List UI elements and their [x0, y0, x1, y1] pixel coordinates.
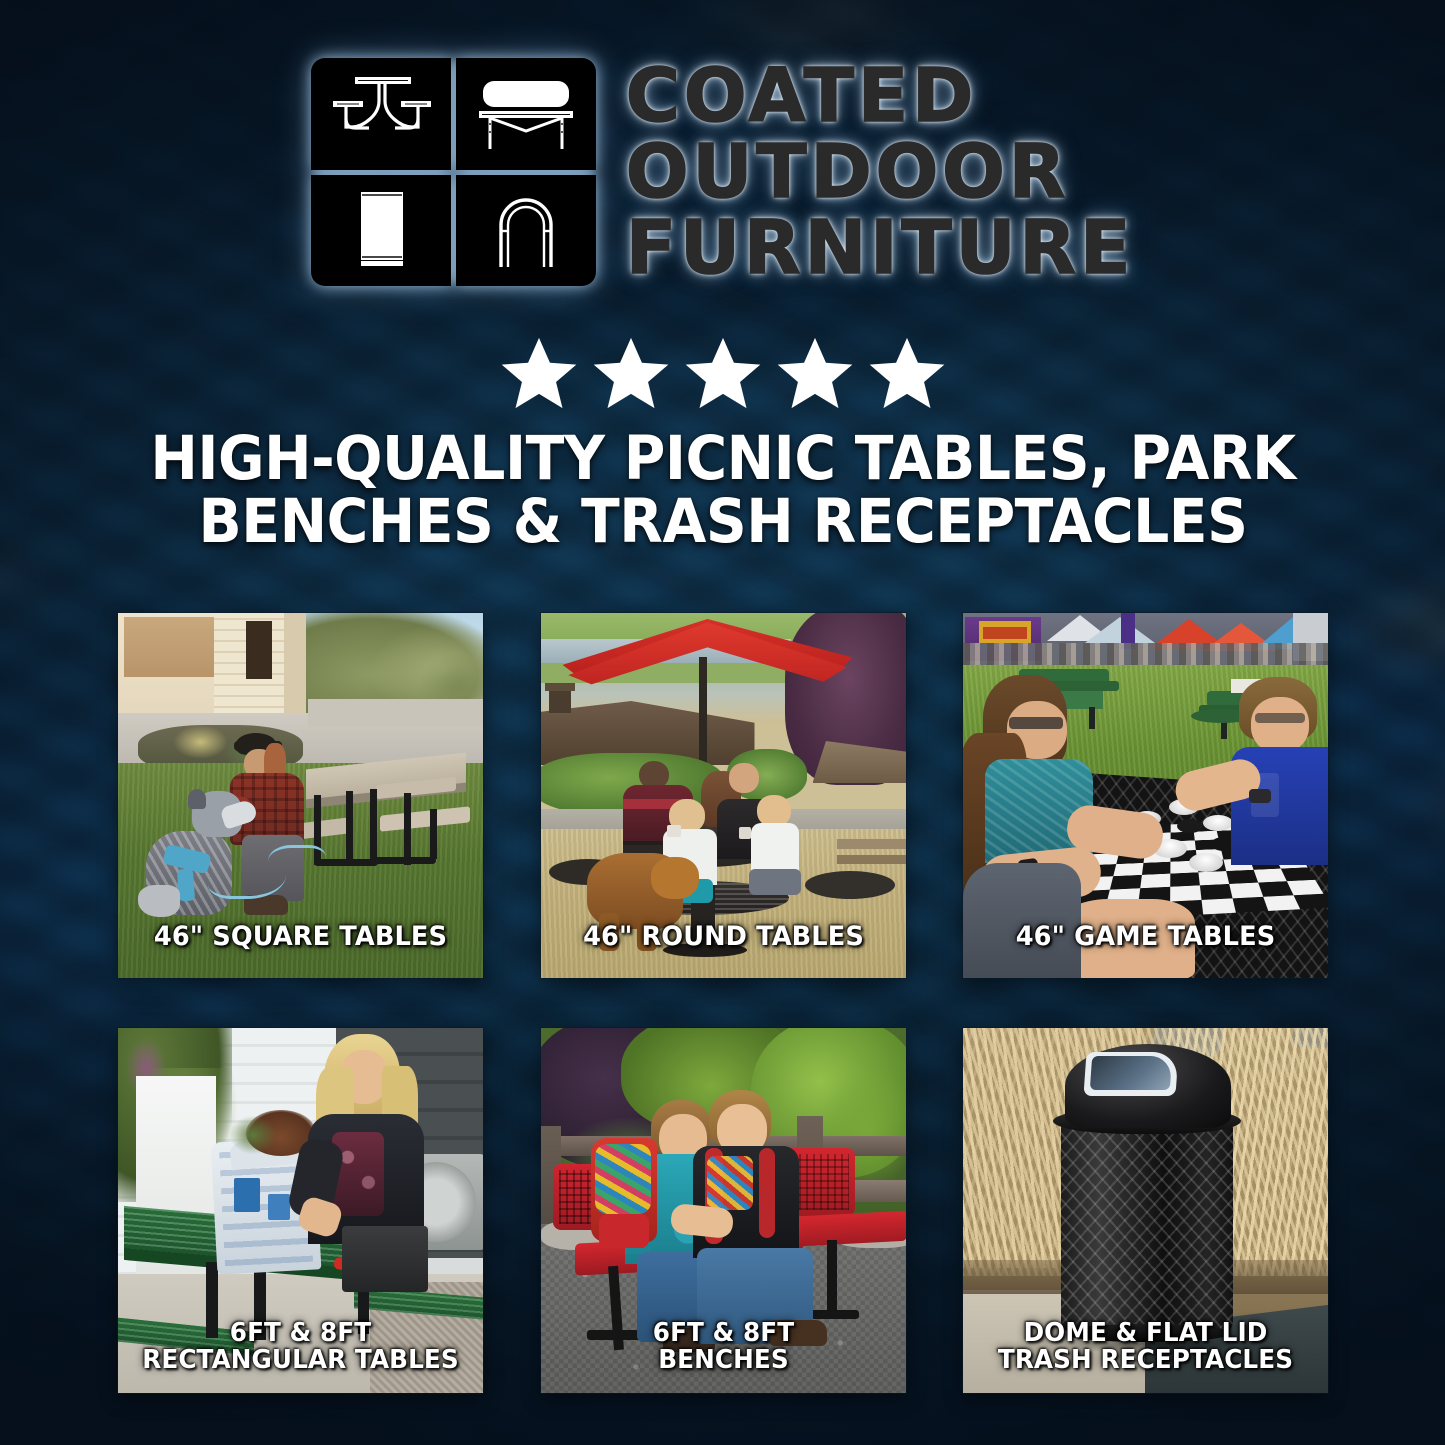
product-caption-line-1: 46" GAME TABLES	[972, 923, 1319, 952]
brand-wordmark: COATED OUTDOOR FURNITURE	[626, 59, 1134, 285]
product-tile-game-tables[interactable]: 46" GAME TABLES	[963, 613, 1328, 978]
product-caption-line-2: RECTANGULAR TABLES	[127, 1347, 474, 1375]
wordmark-line-furniture: FURNITURE	[626, 211, 1134, 285]
picnic-table-icon	[311, 58, 451, 170]
promotional-banner: COATED OUTDOOR FURNITURE HIGH-QUALITY PI…	[0, 0, 1445, 1445]
star-icon	[592, 336, 670, 410]
product-tile-square-tables[interactable]: 46" SQUARE TABLES	[118, 613, 483, 978]
page-title: HIGH-QUALITY PICNIC TABLES, PARK BENCHES…	[78, 428, 1368, 554]
product-caption: 46" GAME TABLES	[963, 923, 1328, 952]
product-caption: 6FT & 8FT RECTANGULAR TABLES	[118, 1320, 483, 1375]
product-grid: 46" SQUARE TABLES	[118, 613, 1328, 1393]
product-caption-line-1: DOME & FLAT LID	[972, 1320, 1319, 1348]
product-caption-line-2: TRASH RECEPTACLES	[972, 1347, 1319, 1375]
product-caption-line-1: 6FT & 8FT	[550, 1320, 897, 1348]
wordmark-line-outdoor: OUTDOOR	[626, 135, 1134, 209]
star-icon	[500, 336, 578, 410]
trash-receptacle-icon	[311, 175, 451, 287]
star-rating	[0, 336, 1445, 410]
headline-line-1: HIGH-QUALITY PICNIC TABLES, PARK	[123, 428, 1323, 491]
logo-icon-grid	[311, 58, 596, 286]
product-caption: DOME & FLAT LID TRASH RECEPTACLES	[963, 1320, 1328, 1375]
product-tile-trash-receptacles[interactable]: DOME & FLAT LID TRASH RECEPTACLES	[963, 1028, 1328, 1393]
brand-logo: COATED OUTDOOR FURNITURE	[0, 58, 1445, 286]
star-icon	[868, 336, 946, 410]
product-tile-benches[interactable]: 6FT & 8FT BENCHES	[541, 1028, 906, 1393]
product-caption: 6FT & 8FT BENCHES	[541, 1320, 906, 1375]
product-caption-line-1: 46" SQUARE TABLES	[127, 923, 474, 952]
star-icon	[776, 336, 854, 410]
product-caption-line-2: BENCHES	[550, 1347, 897, 1375]
product-tile-round-tables[interactable]: 46" ROUND TABLES	[541, 613, 906, 978]
product-caption-line-1: 6FT & 8FT	[127, 1320, 474, 1348]
product-caption: 46" SQUARE TABLES	[118, 923, 483, 952]
product-caption-line-1: 46" ROUND TABLES	[550, 923, 897, 952]
star-icon	[684, 336, 762, 410]
park-bench-icon	[456, 58, 596, 170]
bike-rack-arch-icon	[456, 175, 596, 287]
headline-line-2: BENCHES & TRASH RECEPTACLES	[123, 491, 1323, 554]
product-tile-rectangular-tables[interactable]: 6FT & 8FT RECTANGULAR TABLES	[118, 1028, 483, 1393]
wordmark-line-coated: COATED	[626, 59, 1134, 133]
product-caption: 46" ROUND TABLES	[541, 923, 906, 952]
